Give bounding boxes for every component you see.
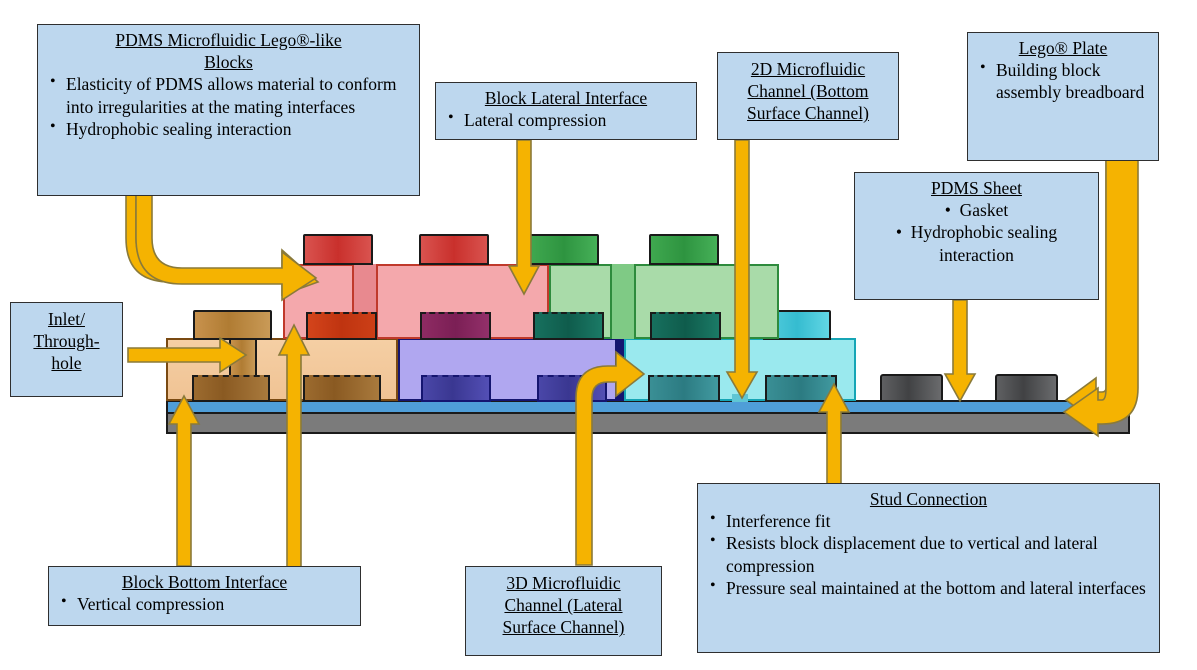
callout-bullet: Interference fit bbox=[704, 510, 1153, 532]
callout-lego-plate[interactable]: Lego® Plate Building block assembly brea… bbox=[967, 32, 1159, 161]
lego-plate-layer bbox=[166, 412, 1130, 434]
callout-bullet-text: Hydrophobic sealing interaction bbox=[896, 222, 1057, 264]
pdms-sheet-layer bbox=[166, 400, 1130, 414]
arrow-inlet-through-hole bbox=[128, 338, 248, 382]
callout-bullet: Building block assembly breadboard bbox=[974, 59, 1152, 103]
cyan-block-under-stud bbox=[648, 375, 720, 402]
callout-bullet-list: Gasket Hydrophobic sealing interaction bbox=[861, 199, 1092, 266]
callout-title: Inlet/ Through- hole bbox=[17, 308, 116, 375]
callout-bullet-list: Lateral compression bbox=[442, 109, 690, 131]
arrow-block-bottom-interface-left bbox=[168, 396, 200, 566]
callout-bullet-text: Gasket bbox=[945, 200, 1009, 220]
callout-bullet-list: Vertical compression bbox=[55, 593, 354, 615]
green-block-under-stud bbox=[533, 312, 604, 340]
callout-title: 2D Microfluidic Channel (Bottom Surface … bbox=[724, 58, 892, 125]
callout-title: 3D Microfluidic Channel (Lateral Surface… bbox=[472, 572, 655, 639]
callout-bullet: Vertical compression bbox=[55, 593, 354, 615]
arrow-pdms-blocks bbox=[120, 190, 310, 295]
callout-bullet-list: Building block assembly breadboard bbox=[974, 59, 1152, 103]
tan-block-under-stud bbox=[303, 375, 381, 402]
callout-bullet: Pressure seal maintained at the bottom a… bbox=[704, 577, 1153, 599]
callout-title: PDMS Microfluidic Lego®-like Blocks bbox=[44, 29, 413, 73]
diagram-canvas: PDMS Microfluidic Lego®-like Blocks Elas… bbox=[0, 0, 1197, 670]
callout-bullet-list: Interference fit Resists block displacem… bbox=[704, 510, 1153, 599]
arrow-stud-connection bbox=[818, 384, 850, 484]
callout-bullet: Hydrophobic sealing interaction bbox=[861, 221, 1092, 265]
lego-plate-stud bbox=[880, 374, 943, 402]
callout-pdms-sheet[interactable]: PDMS Sheet Gasket Hydrophobic sealing in… bbox=[854, 172, 1099, 300]
callout-block-lateral-interface[interactable]: Block Lateral Interface Lateral compress… bbox=[435, 82, 697, 140]
callout-bullet: Gasket bbox=[861, 199, 1092, 221]
callout-bullet-list: Elasticity of PDMS allows material to co… bbox=[44, 73, 413, 140]
arrow-block-lateral-interface bbox=[508, 140, 540, 300]
callout-bullet: Elasticity of PDMS allows material to co… bbox=[44, 73, 413, 117]
callout-bullet: Hydrophobic sealing interaction bbox=[44, 118, 413, 140]
callout-stud-connection[interactable]: Stud Connection Interference fit Resists… bbox=[697, 483, 1160, 653]
callout-inlet-through-hole[interactable]: Inlet/ Through- hole bbox=[10, 302, 123, 397]
callout-block-bottom-interface[interactable]: Block Bottom Interface Vertical compress… bbox=[48, 566, 361, 626]
pink-block-under-stud bbox=[420, 312, 491, 340]
callout-bullet: Resists block displacement due to vertic… bbox=[704, 532, 1153, 576]
arrow-block-bottom-interface-right bbox=[278, 325, 310, 567]
callout-title: Block Lateral Interface bbox=[442, 87, 690, 109]
pink-block-stud bbox=[303, 234, 373, 265]
callout-bullet: Lateral compression bbox=[442, 109, 690, 131]
callout-title: Stud Connection bbox=[704, 488, 1153, 510]
arrow-pdms-sheet bbox=[944, 300, 976, 405]
green-block-under-stud bbox=[650, 312, 721, 340]
callout-title: Lego® Plate bbox=[974, 37, 1152, 59]
callout-title: Block Bottom Interface bbox=[55, 571, 354, 593]
lego-plate-stud bbox=[995, 374, 1058, 402]
arrow-3d-channel bbox=[560, 350, 645, 565]
callout-2d-channel[interactable]: 2D Microfluidic Channel (Bottom Surface … bbox=[717, 52, 899, 140]
callout-3d-channel[interactable]: 3D Microfluidic Channel (Lateral Surface… bbox=[465, 566, 662, 656]
green-block-stud bbox=[649, 234, 719, 265]
callout-pdms-blocks[interactable]: PDMS Microfluidic Lego®-like Blocks Elas… bbox=[37, 24, 420, 196]
tan-block-stud bbox=[193, 310, 272, 340]
arrow-2d-channel bbox=[726, 140, 758, 402]
purple-block-under-stud bbox=[421, 375, 491, 402]
callout-title: PDMS Sheet bbox=[861, 177, 1092, 199]
pink-block-under-stud bbox=[306, 312, 377, 340]
pink-block-stud bbox=[419, 234, 489, 265]
green-block-vertical-channel bbox=[610, 264, 636, 339]
